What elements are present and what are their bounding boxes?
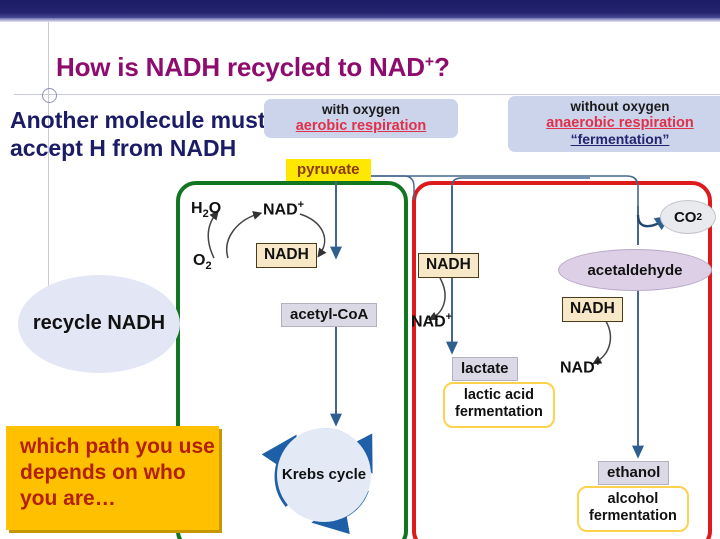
recycle-nadh-oval: recycle NADH bbox=[18, 275, 180, 373]
oxygen-o: O bbox=[193, 252, 205, 269]
lactic-fermentation-line1: lactic acid bbox=[455, 387, 543, 404]
acetaldehyde-oval: acetaldehyde bbox=[558, 249, 712, 291]
alcohol-nadh-box: NADH bbox=[562, 297, 623, 322]
water-o: O bbox=[209, 200, 221, 217]
lactic-nadh-box: NADH bbox=[418, 253, 479, 278]
page-title-superscript: + bbox=[425, 53, 434, 70]
header-anaerobic-line2: anaerobic respiration bbox=[517, 115, 720, 132]
header-aerobic-respiration: with oxygen aerobic respiration bbox=[264, 99, 458, 138]
aerobic-nad-plus-label: NAD+ bbox=[263, 199, 304, 219]
header-anaerobic-line3: “fermentation” bbox=[517, 131, 720, 147]
lactic-nad-plus-label: NAD+ bbox=[411, 311, 452, 331]
slide-canvas: How is NADH recycled to NAD+? Another mo… bbox=[0, 0, 720, 539]
nad-plus-superscript: + bbox=[446, 311, 452, 323]
alcohol-fermentation-line2: fermentation bbox=[589, 508, 677, 525]
nad-text: NAD bbox=[263, 201, 298, 218]
acetyl-coa-box: acetyl-CoA bbox=[281, 303, 377, 327]
lead-statement: Another molecule must accept H from NADH bbox=[10, 106, 275, 162]
pyruvate-label: pyruvate bbox=[286, 159, 371, 181]
carbon-dioxide-oval: CO2 bbox=[660, 200, 716, 234]
ethanol-box: ethanol bbox=[598, 461, 669, 485]
page-title-suffix: ? bbox=[434, 52, 450, 82]
header-anaerobic-respiration: without oxygen anaerobic respiration “fe… bbox=[508, 96, 720, 152]
oxygen-subscript: 2 bbox=[205, 260, 211, 272]
page-title-text: How is NADH recycled to NAD bbox=[56, 52, 425, 82]
lactate-box: lactate bbox=[452, 357, 518, 381]
aerobic-nadh-box: NADH bbox=[256, 243, 317, 268]
top-band-edge bbox=[0, 18, 720, 22]
nad-plus-superscript: + bbox=[595, 357, 601, 369]
crosshair-marker-icon bbox=[42, 88, 57, 103]
header-anaerobic-line1: without oxygen bbox=[517, 99, 720, 115]
nad-plus-superscript: + bbox=[298, 199, 304, 211]
header-aerobic-line1: with oxygen bbox=[273, 102, 449, 118]
water-h: H bbox=[191, 200, 203, 217]
which-path-callout: which path you use depends on who you ar… bbox=[6, 426, 219, 530]
alcohol-fermentation-box: alcohol fermentation bbox=[577, 486, 689, 532]
co2-superscript: 2 bbox=[696, 212, 702, 223]
alcohol-nad-plus-label: NAD+ bbox=[560, 357, 601, 377]
oxygen-label: O2 bbox=[193, 252, 212, 272]
krebs-cycle-node: Krebs cycle bbox=[277, 428, 371, 522]
top-navy-band bbox=[0, 0, 720, 18]
lactic-fermentation-line2: fermentation bbox=[455, 404, 543, 421]
water-label: H2O bbox=[191, 200, 221, 220]
header-aerobic-line2: aerobic respiration bbox=[273, 118, 449, 135]
nad-text: NAD bbox=[560, 359, 595, 376]
alcohol-fermentation-line1: alcohol bbox=[589, 491, 677, 508]
guide-line-horizontal bbox=[14, 94, 720, 95]
co2-text: CO bbox=[674, 209, 697, 226]
page-title: How is NADH recycled to NAD+? bbox=[56, 52, 450, 83]
lactic-acid-fermentation-box: lactic acid fermentation bbox=[443, 382, 555, 428]
nad-text: NAD bbox=[411, 313, 446, 330]
